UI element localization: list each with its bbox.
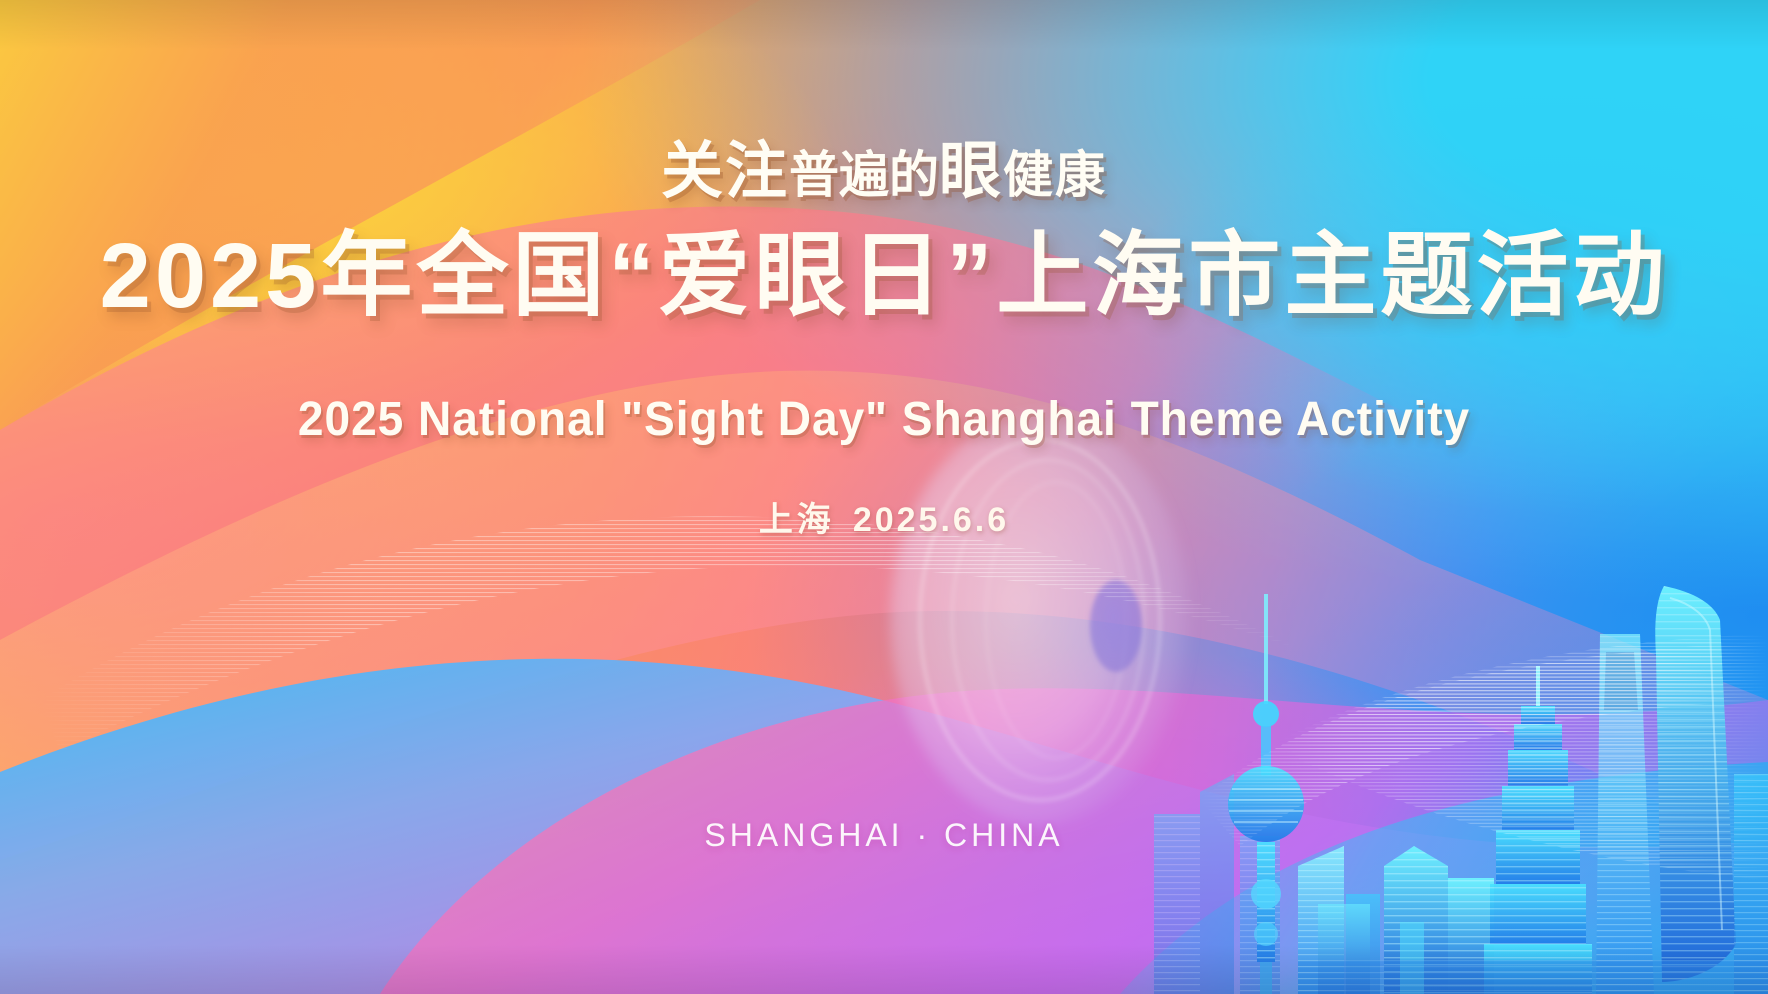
english-title: 2025 National "Sight Day" Shanghai Theme… <box>35 392 1732 447</box>
footer-location: SHANGHAI · CHINA <box>0 817 1768 854</box>
date-value: 2025.6.6 <box>853 501 1009 539</box>
tagline-part-1: 关注 <box>661 137 789 206</box>
date-city: 上海 <box>759 501 835 539</box>
poster-canvas: 关注普遍的眼健康 2025年全国“爱眼日”上海市主题活动 2025 Nation… <box>0 0 1768 994</box>
tagline: 关注普遍的眼健康 <box>0 120 1768 210</box>
tagline-part-4: 健康 <box>1003 147 1107 203</box>
main-title: 2025年全国“爱眼日”上海市主题活动 <box>0 228 1768 325</box>
tagline-part-3: 眼 <box>939 137 1003 206</box>
poster-content: 关注普遍的眼健康 2025年全国“爱眼日”上海市主题活动 2025 Nation… <box>0 0 1768 994</box>
tagline-part-2: 普遍的 <box>789 147 939 203</box>
date-line: 上海2025.6.6 <box>0 492 1768 541</box>
